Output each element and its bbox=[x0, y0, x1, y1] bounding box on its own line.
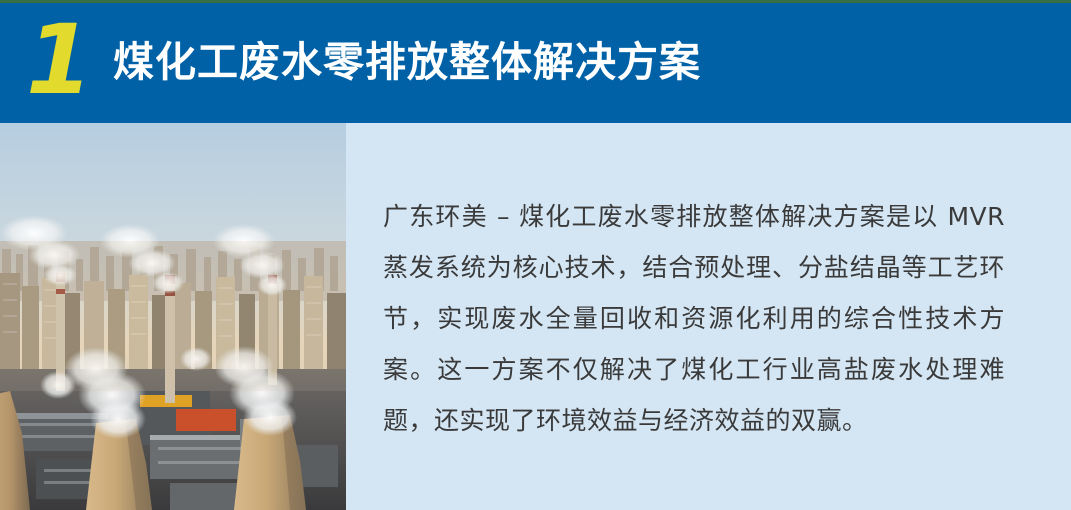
industrial-plant-illustration bbox=[0, 123, 346, 510]
section-number: 1 bbox=[26, 12, 91, 108]
header-top-rule bbox=[0, 0, 1071, 3]
description-paragraph: 广东环美 – 煤化工废水零排放整体解决方案是以 MVR 蒸发系统为核心技术，结合… bbox=[383, 191, 1005, 446]
slide-root: 1 煤化工废水零排放整体解决方案 bbox=[0, 0, 1071, 510]
industrial-plant-photo bbox=[0, 123, 346, 510]
section-header-band: 1 煤化工废水零排放整体解决方案 bbox=[0, 0, 1071, 123]
page-title: 煤化工废水零排放整体解决方案 bbox=[113, 36, 701, 88]
